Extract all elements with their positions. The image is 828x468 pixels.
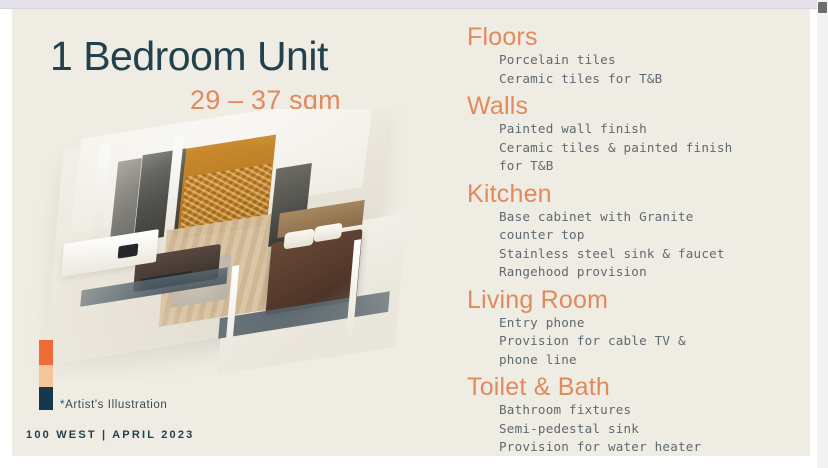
spec-item: Entry phone — [499, 314, 797, 333]
spec-item: Painted wall finish — [499, 120, 797, 139]
spec-item: Provision for water heater — [499, 438, 797, 456]
spec-group-floors: Floors Porcelain tiles Ceramic tiles for… — [467, 23, 797, 88]
spec-item-list: Painted wall finish Ceramic tiles & pain… — [499, 120, 797, 176]
spec-item: Rangehood provision — [499, 263, 797, 282]
spec-item: Ceramic tiles & painted finish for T&B — [499, 139, 797, 176]
spec-item: Base cabinet with Granite counter top — [499, 208, 797, 245]
scrollbar-thumb[interactable] — [818, 2, 827, 13]
spec-heading: Floors — [467, 23, 797, 51]
spec-item-list: Bathroom fixtures Semi-pedestal sink Pro… — [499, 401, 797, 456]
spec-item: Stainless steel sink & faucet — [499, 245, 797, 264]
page-title: 1 Bedroom Unit — [50, 33, 328, 80]
browser-chrome-strip — [0, 0, 828, 9]
color-swatch-orange — [39, 340, 53, 365]
spec-heading: Walls — [467, 92, 797, 120]
unit-3d-render — [22, 109, 462, 379]
spec-item: Ceramic tiles for T&B — [499, 70, 797, 89]
spec-heading: Living Room — [467, 286, 797, 314]
specifications-list: Floors Porcelain tiles Ceramic tiles for… — [467, 23, 797, 456]
color-swatch-peach — [39, 365, 53, 387]
spec-item-list: Porcelain tiles Ceramic tiles for T&B — [499, 51, 797, 88]
spec-item: Semi-pedestal sink — [499, 420, 797, 439]
spec-heading: Toilet & Bath — [467, 373, 797, 401]
spec-item: Provision for cable TV & phone line — [499, 332, 797, 369]
spec-item-list: Base cabinet with Granite counter top St… — [499, 208, 797, 282]
spec-group-living-room: Living Room Entry phone Provision for ca… — [467, 286, 797, 370]
unit-spec-slide: 1 Bedroom Unit 29 – 37 sqm — [12, 9, 810, 456]
spec-group-walls: Walls Painted wall finish Ceramic tiles … — [467, 92, 797, 176]
vertical-scrollbar[interactable] — [817, 0, 828, 468]
spec-group-kitchen: Kitchen Base cabinet with Granite counte… — [467, 180, 797, 282]
artist-illustration-note: *Artist's Illustration — [60, 399, 167, 411]
brand-color-bar — [39, 340, 53, 410]
spec-heading: Kitchen — [467, 180, 797, 208]
spec-group-toilet-bath: Toilet & Bath Bathroom fixtures Semi-ped… — [467, 373, 797, 456]
spec-item: Bathroom fixtures — [499, 401, 797, 420]
footer-project-date: 100 WEST | APRIL 2023 — [26, 429, 195, 441]
color-swatch-navy — [39, 387, 53, 410]
spec-item: Porcelain tiles — [499, 51, 797, 70]
render-edge-fade — [22, 109, 462, 379]
spec-item-list: Entry phone Provision for cable TV & pho… — [499, 314, 797, 370]
left-column: 1 Bedroom Unit 29 – 37 sqm — [12, 9, 462, 456]
